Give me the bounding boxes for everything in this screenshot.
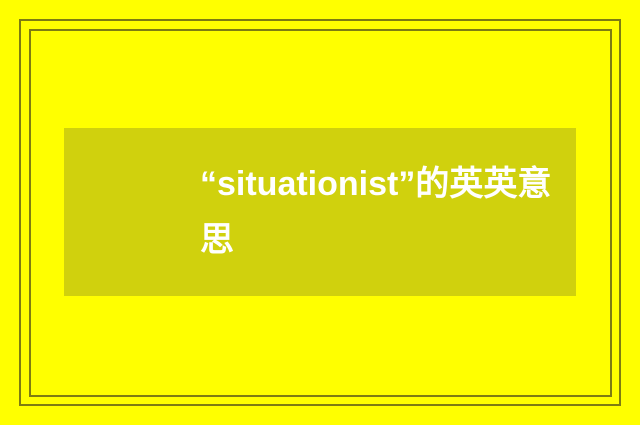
title-panel: “situationist”的英英意思 xyxy=(64,128,576,296)
page-canvas: “situationist”的英英意思 xyxy=(0,0,640,425)
page-title: “situationist”的英英意思 xyxy=(64,156,576,268)
